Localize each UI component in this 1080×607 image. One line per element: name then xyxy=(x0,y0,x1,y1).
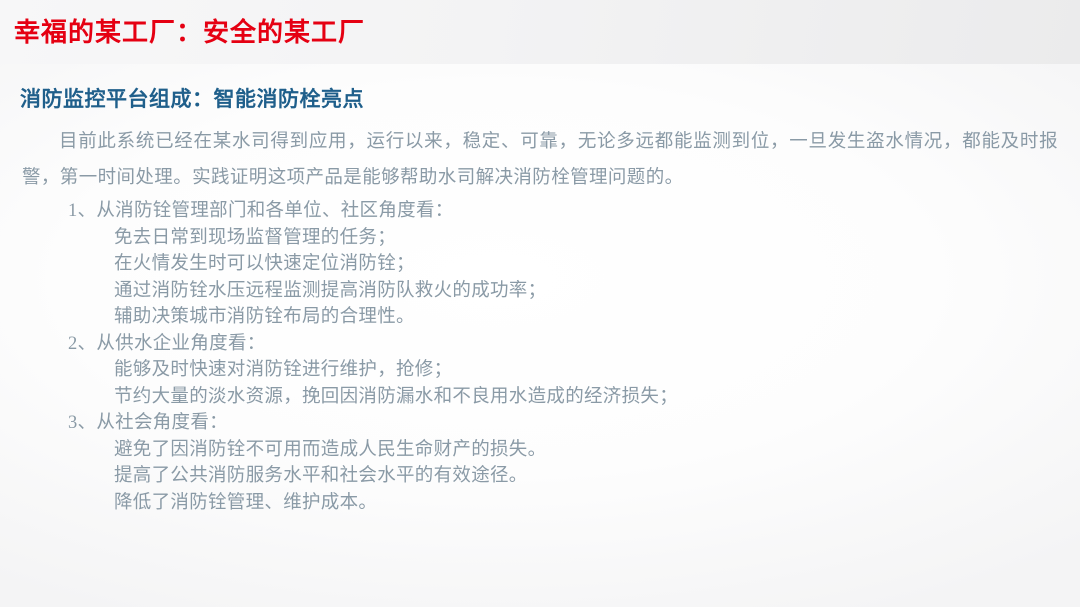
slide-subtitle: 消防监控平台组成：智能消防栓亮点 xyxy=(20,83,364,113)
sub-list-item: 能够及时快速对消防铨进行维护，抢修； xyxy=(0,357,1080,384)
slide-body: 目前此系统已经在某水司得到应用，运行以来，稳定、可靠，无论多远都能监测到位，一旦… xyxy=(0,124,1080,516)
sub-list-item: 节约大量的淡水资源，挽回因消防漏水和不良用水造成的经济损失； xyxy=(0,384,1080,411)
sub-list-item: 提高了公共消防服务水平和社会水平的有效途径。 xyxy=(0,463,1080,490)
sub-list: 避免了因消防铨不可用而造成人民生命财产的损失。提高了公共消防服务水平和社会水平的… xyxy=(0,437,1080,517)
list-item: 2、从供水企业角度看：能够及时快速对消防铨进行维护，抢修；节约大量的淡水资源，挽… xyxy=(0,331,1080,411)
sub-list-item: 辅助决策城市消防铨布局的合理性。 xyxy=(0,304,1080,331)
sub-list: 免去日常到现场监督管理的任务；在火情发生时可以快速定位消防铨；通过消防铨水压远程… xyxy=(0,225,1080,331)
numbered-list: 1、从消防铨管理部门和各单位、社区角度看：免去日常到现场监督管理的任务；在火情发… xyxy=(0,198,1080,516)
presentation-slide: 幸福的某工厂：安全的某工厂 消防监控平台组成：智能消防栓亮点 目前此系统已经在某… xyxy=(0,0,1080,607)
sub-list-item: 免去日常到现场监督管理的任务； xyxy=(0,225,1080,252)
slide-title: 幸福的某工厂：安全的某工厂 xyxy=(14,12,365,49)
list-item: 3、从社会角度看：避免了因消防铨不可用而造成人民生命财产的损失。提高了公共消防服… xyxy=(0,410,1080,516)
list-item-heading: 3、从社会角度看： xyxy=(0,410,1080,437)
sub-list-item: 在火情发生时可以快速定位消防铨； xyxy=(0,251,1080,278)
list-item: 1、从消防铨管理部门和各单位、社区角度看：免去日常到现场监督管理的任务；在火情发… xyxy=(0,198,1080,331)
sub-list-item: 避免了因消防铨不可用而造成人民生命财产的损失。 xyxy=(0,437,1080,464)
list-item-heading: 1、从消防铨管理部门和各单位、社区角度看： xyxy=(0,198,1080,225)
intro-paragraph: 目前此系统已经在某水司得到应用，运行以来，稳定、可靠，无论多远都能监测到位，一旦… xyxy=(0,124,1080,196)
sub-list: 能够及时快速对消防铨进行维护，抢修；节约大量的淡水资源，挽回因消防漏水和不良用水… xyxy=(0,357,1080,410)
list-item-heading: 2、从供水企业角度看： xyxy=(0,331,1080,358)
sub-list-item: 通过消防铨水压远程监测提高消防队救火的成功率； xyxy=(0,278,1080,305)
sub-list-item: 降低了消防铨管理、维护成本。 xyxy=(0,490,1080,517)
